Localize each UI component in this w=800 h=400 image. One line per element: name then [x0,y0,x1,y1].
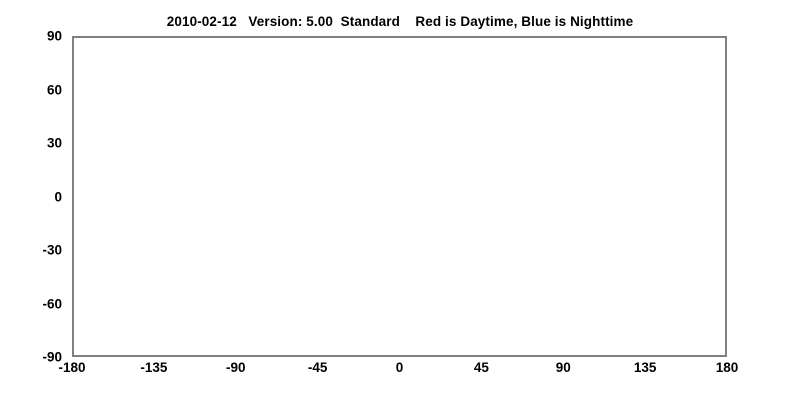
plot-area [72,36,727,357]
y-tick-label: 30 [0,136,62,151]
figure-title: 2010-02-12 Version: 5.00 Standard Red is… [0,14,800,29]
y-tick-label: 90 [0,29,62,44]
x-tick-label: -135 [140,360,167,375]
x-tick-label: -45 [308,360,328,375]
x-tick-label: -180 [58,360,85,375]
x-tick-label: 0 [396,360,404,375]
x-tick-label: 90 [556,360,571,375]
y-tick-label: -90 [0,350,62,365]
plot-frame [72,36,727,357]
y-tick-label: 60 [0,82,62,97]
y-tick-label: 0 [0,189,62,204]
y-tick-label: -60 [0,296,62,311]
x-tick-label: -90 [226,360,246,375]
x-tick-label: 135 [634,360,657,375]
map-figure: 2010-02-12 Version: 5.00 Standard Red is… [0,0,800,400]
y-tick-label: -30 [0,243,62,258]
x-tick-label: 180 [716,360,739,375]
x-tick-label: 45 [474,360,489,375]
